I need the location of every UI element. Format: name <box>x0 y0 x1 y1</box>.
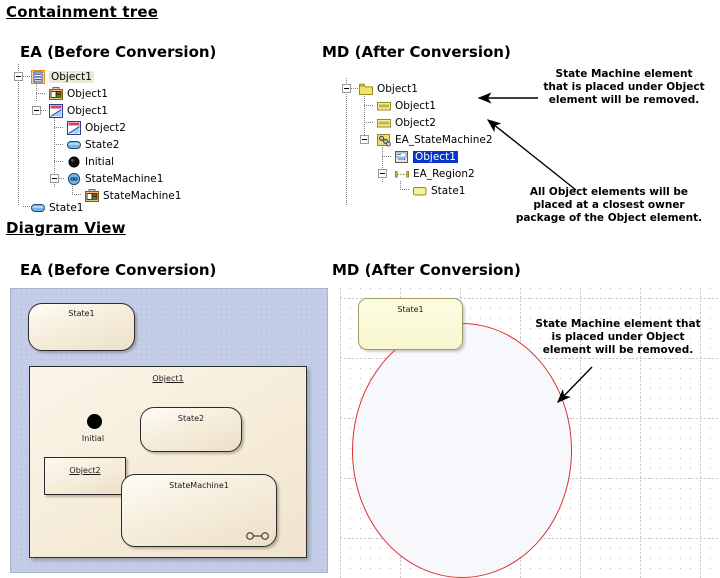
tree-annotation-arrows <box>430 60 720 220</box>
tree-connector <box>54 161 64 162</box>
state-icon <box>67 138 81 152</box>
statemachine-icon <box>67 172 81 186</box>
md-instance-icon <box>395 150 409 164</box>
tree-node-label: Object1 <box>49 71 94 83</box>
md-object-icon <box>377 116 391 130</box>
tree-node-md-2[interactable]: Object2 <box>377 115 436 131</box>
ea-shape-state2[interactable]: State2 <box>140 407 242 452</box>
ea-shape-object2[interactable]: Object2 <box>44 457 126 495</box>
tree-connector <box>400 189 410 190</box>
ea-shape-state1[interactable]: State1 <box>28 303 135 351</box>
package-diagram-icon <box>31 70 45 84</box>
tree-md-panel-title: MD (After Conversion) <box>322 43 511 61</box>
ea-shape-label: Initial <box>58 434 128 443</box>
tree-connector <box>382 156 392 157</box>
tree-expander-md-statemachine2[interactable] <box>360 135 369 144</box>
diagram-note-statemachine-removed: State Machine element that is placed und… <box>516 318 720 357</box>
note-line: element will be removed. <box>516 344 720 357</box>
md-state-icon <box>413 184 427 198</box>
tree-node-ea-0[interactable]: Object1 <box>31 69 94 85</box>
ea-diagram-canvas[interactable]: State1 Object1 Initial Object2 State2 St… <box>10 288 328 573</box>
tree-connector <box>23 76 31 77</box>
tree-connector <box>59 178 65 179</box>
tree-connector <box>18 82 19 206</box>
tree-expander-object1-diagram[interactable] <box>32 106 41 115</box>
note-line: is placed under Object <box>516 331 720 344</box>
tree-ea-panel-title: EA (Before Conversion) <box>20 43 216 61</box>
ea-containment-tree[interactable]: Object1 Object1 Object1 <box>12 64 262 209</box>
tree-node-ea-8[interactable]: State1 <box>31 200 83 216</box>
tree-node-ea-6[interactable]: StateMachine1 <box>67 171 163 187</box>
tree-connector <box>54 144 64 145</box>
tree-expander-object1-root[interactable] <box>14 72 23 81</box>
tree-node-ea-4[interactable]: State2 <box>67 137 119 153</box>
ea-shape-label: Object2 <box>45 466 125 475</box>
tree-node-ea-3[interactable]: Object2 <box>67 120 126 136</box>
tree-node-label: StateMachine1 <box>103 190 181 202</box>
tree-node-label: Object2 <box>85 122 126 134</box>
object-instance-icon <box>85 189 99 203</box>
tree-connector <box>364 96 365 138</box>
tree-connector <box>346 94 347 206</box>
containment-tree-section-title: Containment tree <box>6 3 158 21</box>
md-region-icon <box>395 167 409 181</box>
md-shape-label: State1 <box>359 305 462 314</box>
md-statemachine-icon <box>377 133 391 147</box>
md-gridline <box>340 288 341 578</box>
annotation-arrow-2 <box>488 120 576 190</box>
diagram-md-panel-title: MD (After Conversion) <box>332 261 521 279</box>
diagram-view-section-title: Diagram View <box>6 219 126 237</box>
tree-node-ea-7[interactable]: StateMachine1 <box>85 188 181 204</box>
tree-node-ea-5[interactable]: Initial <box>67 154 114 170</box>
md-shape-state1[interactable]: State1 <box>358 298 463 350</box>
tree-connector <box>41 110 47 111</box>
ea-shape-statemachine1[interactable]: StateMachine1 <box>121 474 277 547</box>
tree-node-ea-1[interactable]: Object1 <box>49 86 108 102</box>
tree-node-md-0[interactable]: Object1 <box>359 81 418 97</box>
tree-connector <box>351 88 359 89</box>
diagram-ea-panel-title: EA (Before Conversion) <box>20 261 216 279</box>
tree-connector <box>54 127 64 128</box>
tree-expander-statemachine1[interactable] <box>50 174 59 183</box>
ea-shape-label: Object1 <box>30 374 306 383</box>
tree-node-label: Object1 <box>67 105 108 117</box>
ea-shape-label: State1 <box>29 309 134 318</box>
tree-expander-md-object1[interactable] <box>342 84 351 93</box>
tree-connector <box>36 93 45 94</box>
submachine-icon <box>246 531 270 541</box>
tree-connector <box>72 194 82 195</box>
md-object-icon <box>377 99 391 113</box>
folder-icon <box>359 82 373 96</box>
ea-shape-object1[interactable]: Object1 Initial Object2 State2 StateMach… <box>29 366 307 558</box>
tree-node-label: Initial <box>85 156 114 168</box>
tree-node-label: Object1 <box>67 88 108 100</box>
tree-expander-md-region2[interactable] <box>378 169 387 178</box>
ea-shape-label: StateMachine1 <box>122 481 276 490</box>
tree-node-ea-2[interactable]: Object1 <box>49 103 108 119</box>
object-instance-icon <box>49 87 63 101</box>
diagram-icon <box>49 104 63 118</box>
annotation-arrow-3 <box>558 367 592 402</box>
ea-shape-initial-dot[interactable] <box>87 414 102 429</box>
tree-connector <box>18 64 19 72</box>
tree-node-label: StateMachine1 <box>85 173 163 185</box>
ea-shape-label: State2 <box>141 414 241 423</box>
state-icon <box>31 201 45 215</box>
diagram-annotation-arrow <box>530 360 640 430</box>
tree-connector <box>364 122 373 123</box>
tree-node-md-1[interactable]: Object1 <box>377 98 436 114</box>
tree-connector <box>364 105 373 106</box>
tree-node-label: State2 <box>85 139 119 151</box>
tree-node-label: Object1 <box>377 83 418 95</box>
note-line: State Machine element that <box>516 318 720 331</box>
tree-node-label: State1 <box>49 202 83 214</box>
initial-node-icon <box>67 155 81 169</box>
diagram-icon <box>67 121 81 135</box>
